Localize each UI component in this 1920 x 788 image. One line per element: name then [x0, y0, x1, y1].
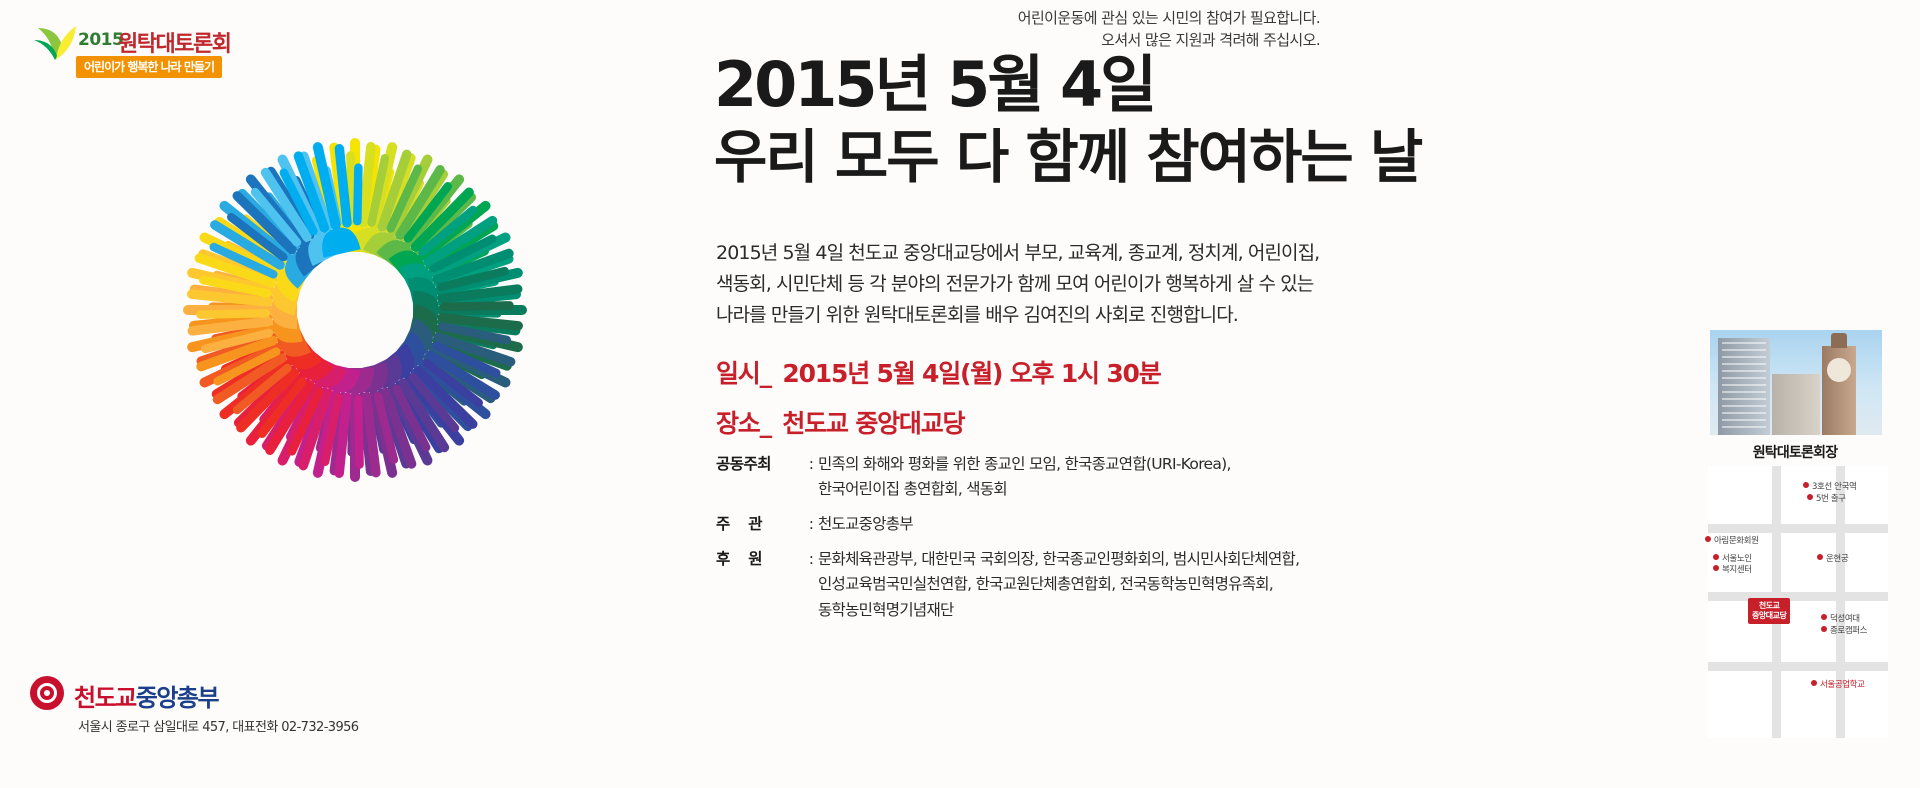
top-note: 어린이운동에 관심 있는 시민의 참여가 필요합니다. 오셔서 많은 지원과 격… — [1018, 8, 1320, 52]
body-paragraph: 2015년 5월 4일 천도교 중앙대교당에서 부모, 교육계, 종교계, 정치… — [716, 238, 1406, 330]
hand-finger — [354, 395, 364, 469]
credit-row: 후원:문화체육관광부, 대한민국 국회의장, 한국종교인평화회의, 범시민사회단… — [716, 547, 1356, 622]
headline-line1: 2015년 5월 4일 — [714, 52, 1714, 119]
credit-colon: : — [804, 547, 818, 572]
credit-value: 천도교중앙총부 — [818, 512, 913, 537]
campaign-title: 원탁대토론회 — [118, 26, 230, 58]
cheondogyo-emblem-icon — [30, 676, 64, 710]
photo-bell-tower — [1822, 346, 1856, 435]
map-road-horizontal — [1708, 662, 1888, 671]
top-note-line1: 어린이운동에 관심 있는 시민의 참여가 필요합니다. — [1018, 8, 1320, 30]
credit-row: 공동주최:민족의 화해와 평화를 위한 종교인 모임, 한국종교연합(URI-K… — [716, 452, 1356, 502]
credit-value-line: 동학농민혁명기념재단 — [818, 598, 1299, 623]
org-name-part2: 중앙총부 — [136, 684, 218, 712]
map-point — [1807, 494, 1813, 500]
headline-line2: 우리 모두 다 함께 참여하는 날 — [714, 125, 1714, 190]
body-line: 나라를 만들기 위한 원탁대토론회를 배우 김여진의 사회로 진행합니다. — [716, 300, 1406, 331]
event-venue-value: 천도교 중앙대교당 — [782, 409, 964, 438]
credit-label: 공동주최 — [716, 452, 804, 477]
venue-photo-caption: 원탁대토론회장 — [1690, 442, 1900, 462]
credits-list: 공동주최:민족의 화해와 평화를 위한 종교인 모임, 한국종교연합(URI-K… — [716, 452, 1356, 633]
org-name-part1: 천도교 — [74, 684, 136, 712]
leaf-icon — [32, 16, 78, 62]
map-point — [1811, 680, 1817, 686]
credit-value-line: 천도교중앙총부 — [818, 512, 913, 537]
event-venue: 장소_ 천도교 중앙대교당 — [716, 404, 1161, 440]
map-point — [1705, 536, 1711, 542]
map-point — [1821, 626, 1827, 632]
map-label: 5번 출구 — [1816, 492, 1846, 504]
map-marker-venue: 천도교 중앙대교당 — [1748, 598, 1790, 624]
map-road-horizontal — [1708, 592, 1888, 601]
hand-finger — [440, 301, 514, 311]
credit-row: 주관:천도교중앙총부 — [716, 512, 1356, 537]
body-line: 색동회, 시민단체 등 각 분야의 전문가가 함께 모여 어린이가 행복하게 살… — [716, 269, 1406, 300]
event-datetime-value: 2015년 5월 4일(월) 오후 1시 30분 — [782, 359, 1160, 388]
map-road-horizontal — [1708, 524, 1888, 533]
venue-photo — [1710, 330, 1882, 435]
credit-value-line: 문화체육관광부, 대한민국 국회의장, 한국종교인평화회의, 범시민사회단체연합… — [818, 547, 1299, 572]
map-point — [1821, 614, 1827, 620]
credit-label: 주관 — [716, 512, 804, 537]
poster-root: 2015 원탁대토론회 어린이가 행복한 나라 만들기 천도교중앙총부 서울시 … — [0, 0, 1920, 788]
credit-colon: : — [804, 452, 818, 477]
map-point — [1713, 565, 1719, 571]
credit-value-line: 한국어린이집 총연합회, 색동회 — [818, 477, 1231, 502]
venue-map: 천도교 중앙대교당 3호선 안국역5번 출구아림문화회원서울노인복지센터운현궁덕… — [1708, 466, 1888, 738]
credit-value-line: 인성교육범국민실천연합, 한국교원단체총연합회, 전국동학농민혁명유족회, — [818, 572, 1299, 597]
hand-finger — [353, 163, 363, 225]
hands-circle-svg — [120, 70, 590, 550]
map-point — [1803, 482, 1809, 488]
photo-building-mid — [1772, 374, 1820, 435]
map-road-vertical — [1836, 466, 1845, 738]
map-point — [1713, 554, 1719, 560]
hand-finger — [196, 309, 270, 319]
organization-logo: 천도교중앙총부 서울시 종로구 삼일대로 457, 대표전화 02-732-39… — [30, 672, 360, 748]
venue-sidebar: 원탁대토론회장 천도교 중앙대교당 3호선 안국역5번 출구아림문화회원서울노인… — [1690, 330, 1900, 780]
credit-value: 문화체육관광부, 대한민국 국회의장, 한국종교인평화회의, 범시민사회단체연합… — [818, 547, 1299, 622]
credit-colon: : — [804, 512, 818, 537]
left-graphic-panel: 2015 원탁대토론회 어린이가 행복한 나라 만들기 천도교중앙총부 서울시 … — [0, 0, 700, 788]
credit-value-line: 민족의 화해와 평화를 위한 종교인 모임, 한국종교연합(URI-Korea)… — [818, 452, 1231, 477]
event-details: 일시_ 2015년 5월 4일(월) 오후 1시 30분 장소_ 천도교 중앙대… — [716, 354, 1161, 454]
map-label: 종로캠퍼스 — [1830, 624, 1867, 636]
organization-name: 천도교중앙총부 — [74, 678, 218, 713]
photo-building-left — [1718, 338, 1770, 435]
event-venue-label: 장소_ — [716, 409, 771, 438]
event-datetime-label: 일시_ — [716, 359, 771, 388]
event-datetime: 일시_ 2015년 5월 4일(월) 오후 1시 30분 — [716, 354, 1161, 390]
rainbow-hands-graphic — [120, 70, 590, 550]
credit-label: 후원 — [716, 547, 804, 572]
map-label: 아림문화회원 — [1714, 534, 1759, 546]
map-label: 덕성여대 — [1830, 612, 1860, 624]
map-label: 3호선 안국역 — [1812, 480, 1856, 492]
map-point — [1817, 554, 1823, 560]
body-line: 2015년 5월 4일 천도교 중앙대교당에서 부모, 교육계, 종교계, 정치… — [716, 238, 1406, 269]
organization-address: 서울시 종로구 삼일대로 457, 대표전화 02-732-3956 — [78, 716, 358, 735]
map-label: 서울공업학교 — [1820, 678, 1865, 690]
campaign-year: 2015 — [78, 30, 123, 50]
map-label: 복지센터 — [1722, 563, 1752, 575]
page-title: 2015년 5월 4일 우리 모두 다 함께 참여하는 날 — [714, 52, 1714, 190]
credit-value: 민족의 화해와 평화를 위한 종교인 모임, 한국종교연합(URI-Korea)… — [818, 452, 1231, 502]
map-label: 운현궁 — [1826, 552, 1848, 564]
